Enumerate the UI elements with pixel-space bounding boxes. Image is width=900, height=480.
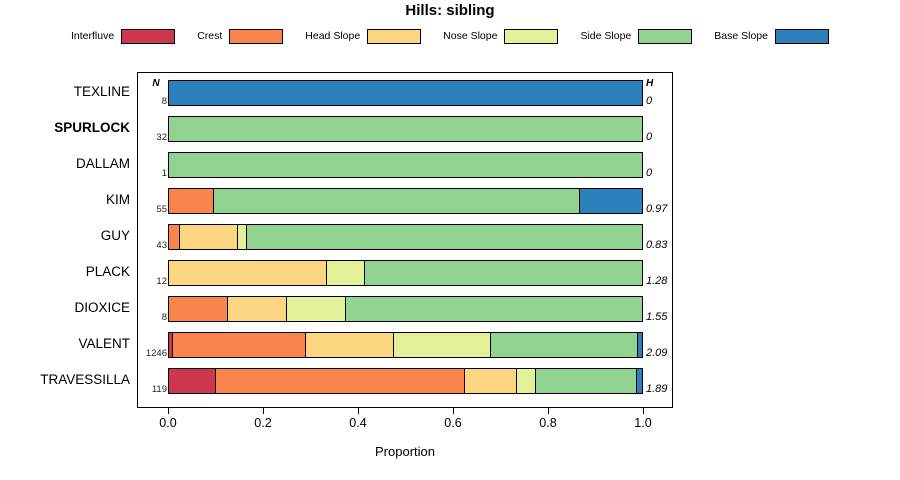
chart-root: Hills: sibling InterfluveCrestHead Slope… (0, 0, 900, 480)
bar-segment-crest[interactable] (216, 369, 464, 393)
legend-label: Nose Slope (443, 30, 497, 42)
bar-segment-side-slope[interactable] (365, 261, 642, 285)
n-value: 1 (139, 168, 167, 179)
n-value: 119 (139, 384, 167, 395)
legend-label: Head Slope (305, 30, 360, 42)
axis-tick-label: 0.4 (338, 416, 378, 430)
bar-segment-side-slope[interactable] (214, 189, 581, 213)
legend: InterfluveCrestHead SlopeNose SlopeSide … (0, 26, 900, 46)
bar-segment-side-slope[interactable] (169, 117, 642, 141)
bar-segment-side-slope[interactable] (536, 369, 638, 393)
stacked-bar[interactable] (168, 224, 643, 250)
legend-item-side-slope: Side Slope (580, 29, 692, 44)
stacked-bar[interactable] (168, 116, 643, 142)
bar-segment-base-slope[interactable] (580, 189, 641, 213)
axis-tick (168, 408, 169, 414)
bar-segment-nose-slope[interactable] (238, 225, 247, 249)
row-label-valent: VALENT (0, 336, 130, 351)
row-label-dioxice: DIOXICE (0, 300, 130, 315)
legend-label: Interfluve (71, 30, 114, 42)
bar-segment-nose-slope[interactable] (287, 297, 346, 321)
axis-tick-label: 0.8 (528, 416, 568, 430)
legend-swatch (504, 29, 558, 44)
n-column-header: N (145, 78, 167, 89)
n-value: 12 (139, 276, 167, 287)
bar-segment-interfluve[interactable] (169, 369, 216, 393)
stacked-bar[interactable] (168, 296, 643, 322)
row-label-guy: GUY (0, 228, 130, 243)
bar-segment-nose-slope[interactable] (517, 369, 536, 393)
axis-tick (643, 408, 644, 414)
n-value: 1246 (139, 348, 167, 359)
stacked-bar[interactable] (168, 188, 643, 214)
legend-label: Base Slope (714, 30, 768, 42)
axis-tick (548, 408, 549, 414)
bar-segment-head-slope[interactable] (465, 369, 517, 393)
dendrogram (673, 72, 900, 408)
bar-segment-side-slope[interactable] (346, 297, 642, 321)
legend-item-head-slope: Head Slope (305, 29, 421, 44)
bar-segment-side-slope[interactable] (247, 225, 642, 249)
x-axis-title: Proportion (137, 444, 673, 459)
row-label-travessilla: TRAVESSILLA (0, 372, 130, 387)
h-column-header: H (646, 78, 670, 89)
stacked-bar[interactable] (168, 80, 643, 106)
row-label-texline: TEXLINE (0, 84, 130, 99)
axis-tick-label: 0.6 (433, 416, 473, 430)
axis-tick (263, 408, 264, 414)
bar-segment-head-slope[interactable] (180, 225, 238, 249)
stacked-bar[interactable] (168, 332, 643, 358)
bar-segment-head-slope[interactable] (228, 297, 287, 321)
axis-tick-label: 1.0 (623, 416, 663, 430)
bar-segment-side-slope[interactable] (169, 153, 642, 177)
legend-item-interfluve: Interfluve (71, 29, 175, 44)
stacked-bar[interactable] (168, 368, 643, 394)
axis-tick-label: 0.2 (243, 416, 283, 430)
bar-segment-base-slope[interactable] (169, 81, 642, 105)
axis-tick (358, 408, 359, 414)
n-value: 43 (139, 240, 167, 251)
legend-swatch (775, 29, 829, 44)
bar-segment-crest[interactable] (169, 297, 228, 321)
bar-segment-nose-slope[interactable] (327, 261, 365, 285)
bar-segment-base-slope[interactable] (638, 333, 642, 357)
row-label-plack: PLACK (0, 264, 130, 279)
bar-segment-side-slope[interactable] (491, 333, 639, 357)
legend-label: Side Slope (580, 30, 631, 42)
n-value: 8 (139, 312, 167, 323)
chart-title: Hills: sibling (0, 2, 900, 19)
bar-segment-base-slope[interactable] (637, 369, 642, 393)
legend-swatch (229, 29, 283, 44)
bar-segment-nose-slope[interactable] (394, 333, 491, 357)
bar-segment-head-slope[interactable] (169, 261, 327, 285)
row-label-kim: KIM (0, 192, 130, 207)
bar-segment-crest[interactable] (169, 189, 214, 213)
bar-segment-crest[interactable] (169, 225, 180, 249)
stacked-bar[interactable] (168, 260, 643, 286)
legend-label: Crest (197, 30, 222, 42)
n-value: 32 (139, 132, 167, 143)
row-label-spurlock: SPURLOCK (0, 120, 130, 135)
bar-segment-crest[interactable] (173, 333, 306, 357)
legend-swatch (121, 29, 175, 44)
bar-segment-head-slope[interactable] (306, 333, 394, 357)
stacked-bar[interactable] (168, 152, 643, 178)
legend-item-nose-slope: Nose Slope (443, 29, 558, 44)
n-value: 55 (139, 204, 167, 215)
legend-swatch (638, 29, 692, 44)
legend-item-base-slope: Base Slope (714, 29, 829, 44)
axis-tick (453, 408, 454, 414)
row-label-dallam: DALLAM (0, 156, 130, 171)
n-value: 8 (139, 96, 167, 107)
axis-tick-label: 0.0 (148, 416, 188, 430)
legend-swatch (367, 29, 421, 44)
legend-item-crest: Crest (197, 29, 283, 44)
